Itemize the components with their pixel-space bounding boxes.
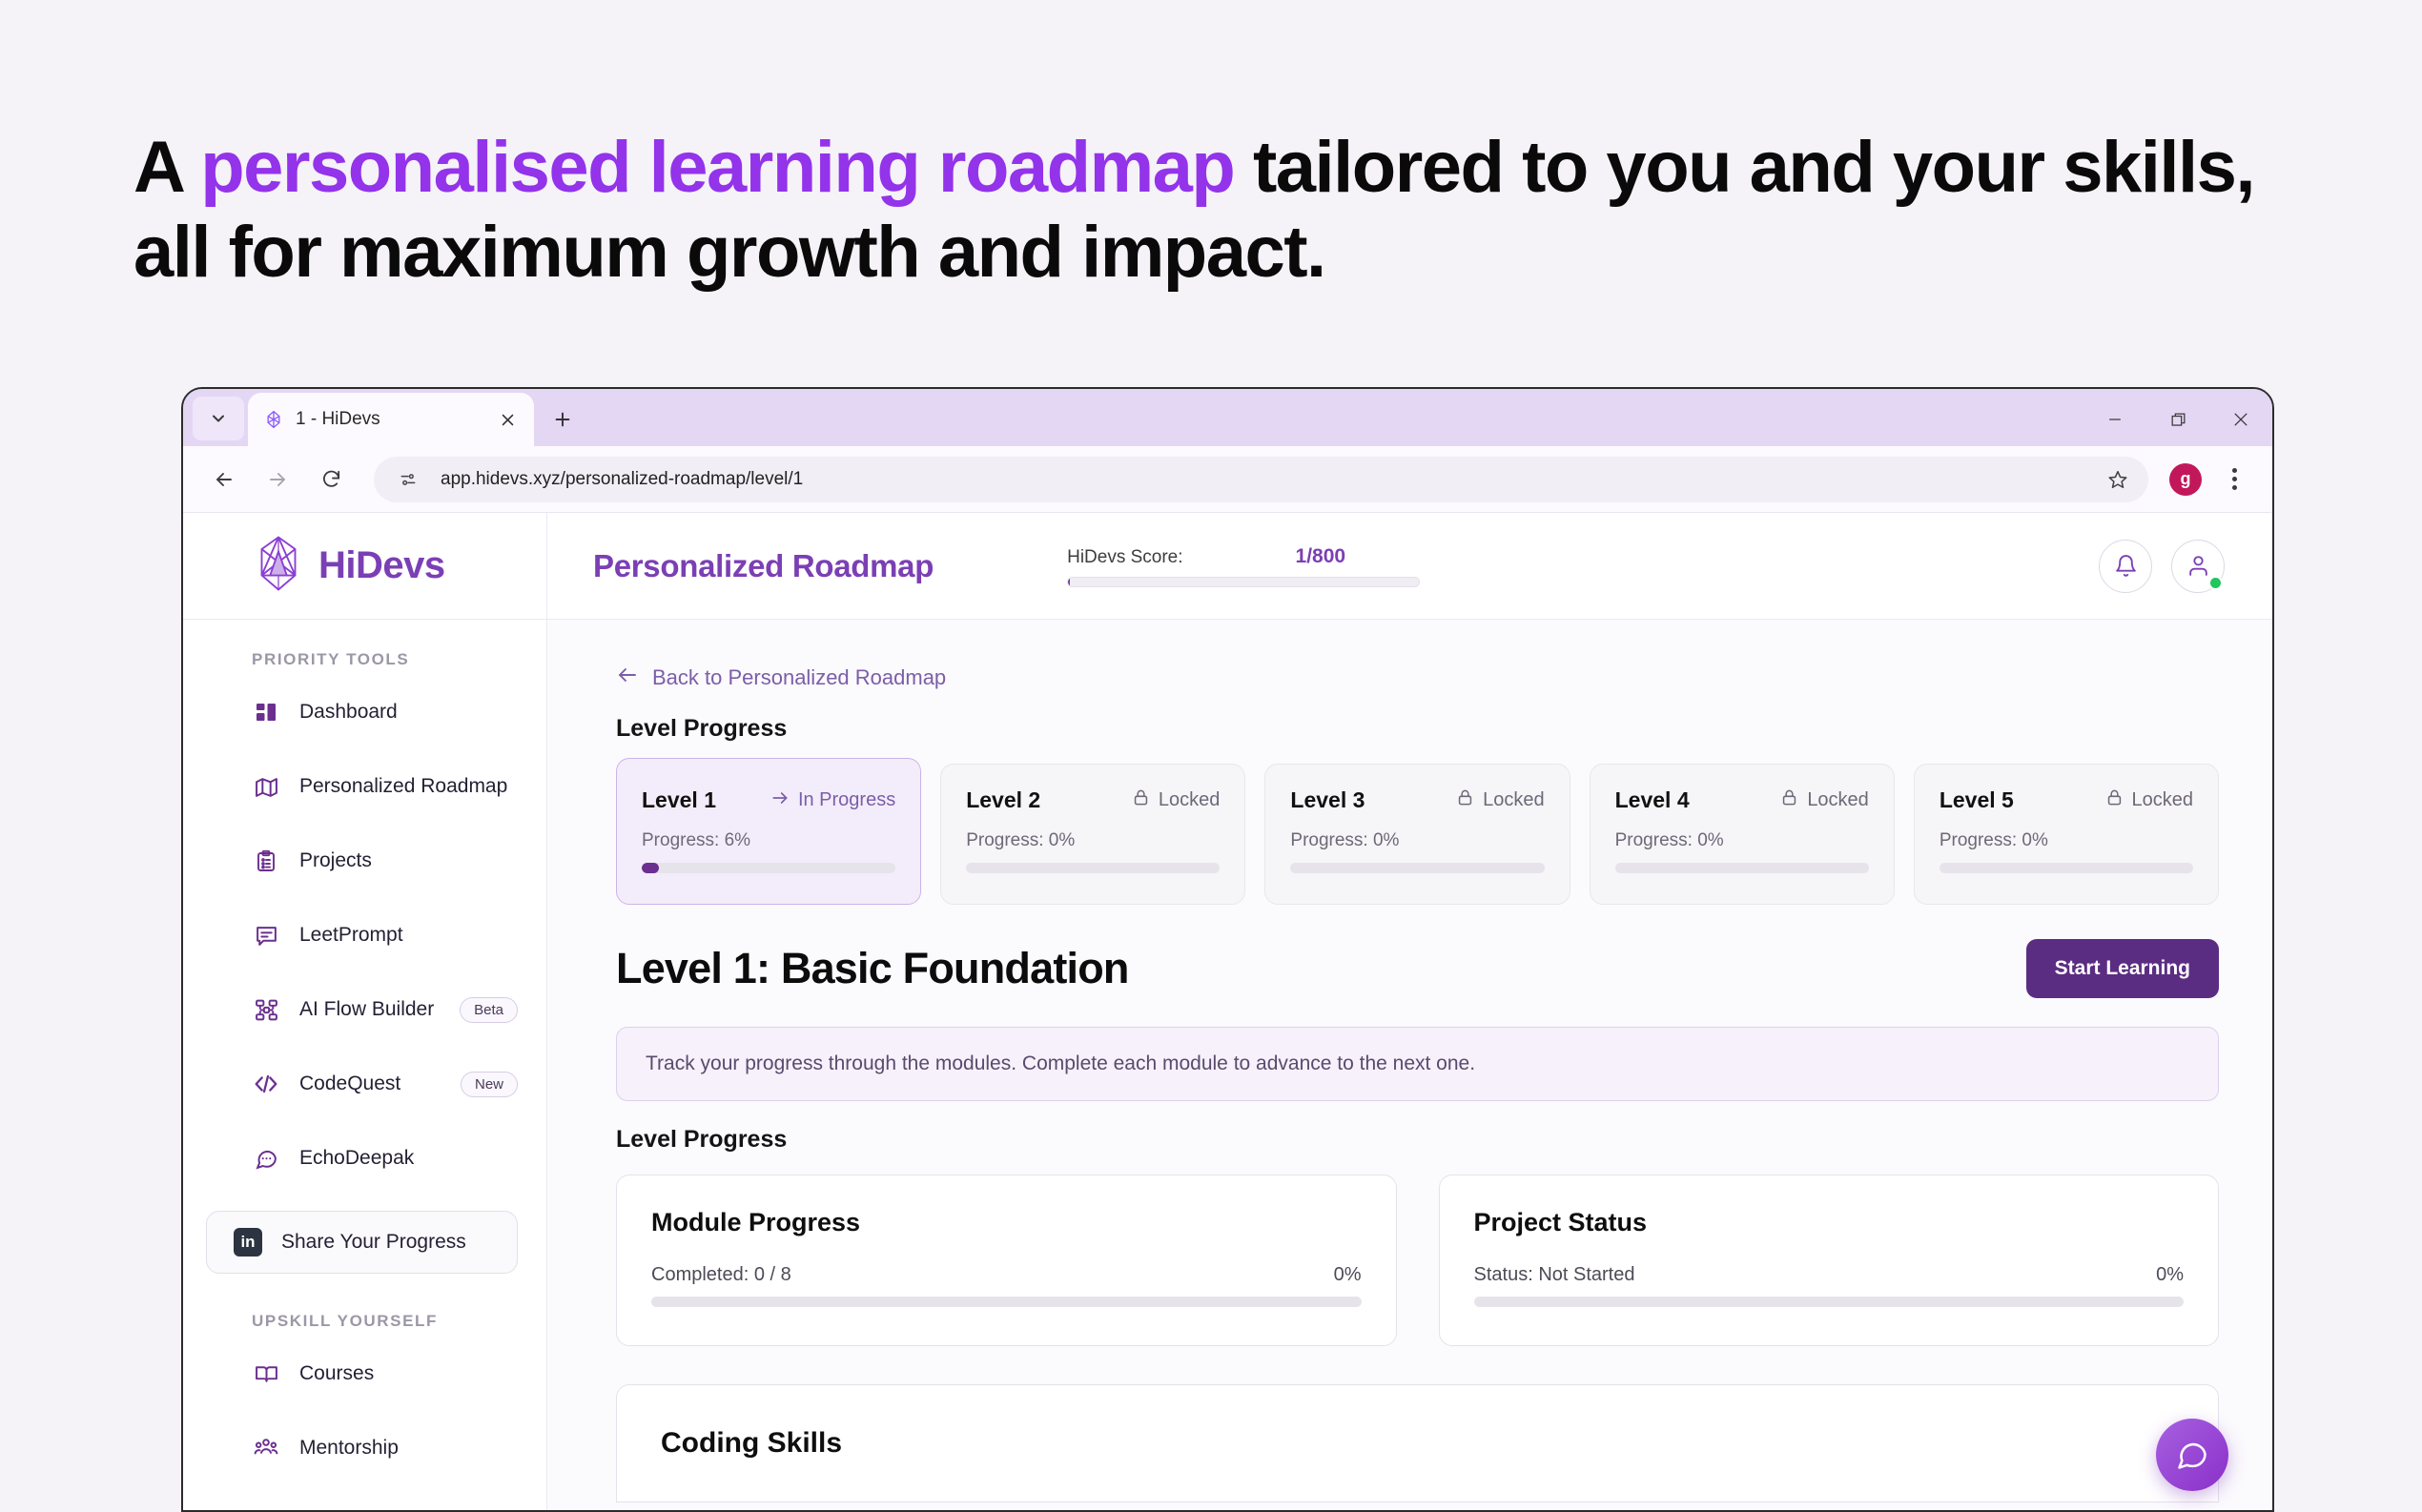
app-header: HiDevs Personalized Roadmap HiDevs Score… bbox=[183, 513, 2272, 620]
level-card-4[interactable]: Level 4 Locked Progress: 0% bbox=[1590, 764, 1895, 905]
plus-icon[interactable] bbox=[542, 398, 584, 440]
module-percent: 0% bbox=[1334, 1264, 1362, 1286]
header-actions bbox=[2099, 540, 2225, 593]
level-title: Level 1: Basic Foundation bbox=[616, 944, 1129, 993]
level-progress-label: Progress: 0% bbox=[1940, 830, 2193, 851]
level-status-label: Locked bbox=[1159, 789, 1221, 811]
score-progress-bar bbox=[1067, 577, 1420, 587]
lock-icon bbox=[1780, 788, 1798, 812]
main-content: Back to Personalized Roadmap Level Progr… bbox=[547, 620, 2272, 1512]
clipboard-icon bbox=[252, 847, 280, 875]
level-status-label: In Progress bbox=[798, 789, 895, 811]
sidebar-item-leetprompt[interactable]: LeetPrompt bbox=[183, 913, 546, 957]
sidebar-item-label: CodeQuest bbox=[299, 1073, 400, 1095]
arrow-right-icon[interactable] bbox=[254, 456, 301, 503]
coding-skills-title: Coding Skills bbox=[661, 1427, 2174, 1460]
star-icon[interactable] bbox=[2099, 460, 2137, 499]
sidebar-item-projects[interactable]: Projects bbox=[183, 839, 546, 883]
sidebar-item-label: AI Flow Builder bbox=[299, 998, 434, 1021]
url-text: app.hidevs.xyz/personalized-roadmap/leve… bbox=[441, 469, 2085, 490]
sidebar-item-ai-flow-builder[interactable]: AI Flow Builder Beta bbox=[183, 988, 546, 1032]
sidebar-item-label: Dashboard bbox=[299, 701, 398, 724]
second-level-progress-heading: Level Progress bbox=[616, 1126, 2219, 1154]
level-status-label: Locked bbox=[1483, 789, 1545, 811]
browser-tab[interactable]: 1 - HiDevs bbox=[248, 393, 534, 446]
chat-bubble-icon bbox=[252, 1144, 280, 1173]
score-label: HiDevs Score: bbox=[1067, 547, 1182, 568]
sidebar-section-upskill-yourself: UPSKILL YOURSELF bbox=[183, 1312, 546, 1331]
back-link-label: Back to Personalized Roadmap bbox=[652, 665, 946, 690]
linkedin-icon: in bbox=[234, 1228, 262, 1257]
chat-bubble-icon[interactable] bbox=[2156, 1419, 2228, 1491]
score-value: 1/800 bbox=[1296, 545, 1346, 568]
app-logo[interactable]: HiDevs bbox=[183, 513, 547, 619]
level-card-5[interactable]: Level 5 Locked Progress: 0% bbox=[1914, 764, 2219, 905]
reload-icon[interactable] bbox=[307, 456, 355, 503]
browser-tab-title: 1 - HiDevs bbox=[296, 409, 484, 430]
arrow-right-icon bbox=[770, 788, 790, 813]
sidebar-item-codequest[interactable]: CodeQuest New bbox=[183, 1062, 546, 1106]
hidevs-diamond-icon bbox=[263, 409, 284, 430]
level-name: Level 1 bbox=[642, 787, 716, 813]
level-progress-bar bbox=[642, 863, 895, 873]
lock-icon bbox=[2105, 788, 2124, 812]
level-progress-bar bbox=[966, 863, 1220, 873]
sidebar-item-personalized-roadmap[interactable]: Personalized Roadmap bbox=[183, 765, 546, 808]
users-icon bbox=[252, 1434, 280, 1462]
page-title: Personalized Roadmap bbox=[593, 548, 934, 584]
level-name: Level 2 bbox=[966, 787, 1040, 813]
browser-profile-avatar[interactable]: g bbox=[2169, 463, 2202, 496]
level-title-row: Level 1: Basic Foundation Start Learning bbox=[616, 939, 2219, 998]
level-status: In Progress bbox=[770, 788, 895, 813]
user-icon[interactable] bbox=[2171, 540, 2225, 593]
minimize-icon[interactable] bbox=[2083, 393, 2146, 446]
sidebar-section-priority-tools: PRIORITY TOOLS bbox=[183, 650, 546, 669]
level-card-1[interactable]: Level 1 In Progress Progress: 6% bbox=[616, 758, 921, 905]
browser-tab-strip: 1 - HiDevs bbox=[183, 389, 2272, 446]
level-progress-bar bbox=[1940, 863, 2193, 873]
app-viewport: HiDevs Personalized Roadmap HiDevs Score… bbox=[183, 513, 2272, 1512]
brand-name: HiDevs bbox=[318, 544, 445, 587]
sidebar: PRIORITY TOOLS Dashboard Personalized Ro… bbox=[183, 620, 547, 1512]
hero-accent: personalised learning roadmap bbox=[200, 127, 1234, 208]
sidebar-item-label: Projects bbox=[299, 849, 372, 872]
sidebar-item-label: Personalized Roadmap bbox=[299, 775, 507, 798]
tune-icon[interactable] bbox=[389, 460, 427, 499]
arrow-left-icon bbox=[616, 664, 639, 692]
share-your-progress-button[interactable]: in Share Your Progress bbox=[206, 1211, 518, 1274]
stat-card-grid: Module Progress Completed: 0 / 8 0% Proj… bbox=[616, 1175, 2219, 1346]
code-brackets-icon bbox=[252, 1070, 280, 1098]
level-progress-label: Progress: 0% bbox=[1615, 830, 1869, 851]
sidebar-item-courses[interactable]: Courses bbox=[183, 1352, 546, 1396]
level-status: Locked bbox=[2105, 788, 2194, 812]
hidevs-diamond-logo bbox=[254, 535, 303, 597]
sidebar-item-dashboard[interactable]: Dashboard bbox=[183, 690, 546, 734]
sidebar-item-label: Mentorship bbox=[299, 1437, 399, 1460]
level-status: Locked bbox=[1456, 788, 1545, 812]
online-status-dot bbox=[2208, 576, 2223, 590]
workflow-icon bbox=[252, 995, 280, 1024]
lock-icon bbox=[1132, 788, 1150, 812]
bell-icon[interactable] bbox=[2099, 540, 2152, 593]
level-progress-bar bbox=[1615, 863, 1869, 873]
browser-toolbar: app.hidevs.xyz/personalized-roadmap/leve… bbox=[183, 446, 2272, 513]
sidebar-item-label: EchoDeepak bbox=[299, 1147, 414, 1170]
hero-lead: A bbox=[133, 127, 200, 208]
level-status-label: Locked bbox=[2132, 789, 2194, 811]
level-progress-label: Progress: 0% bbox=[1290, 830, 1544, 851]
sidebar-item-label: LeetPrompt bbox=[299, 924, 403, 947]
start-learning-button[interactable]: Start Learning bbox=[2026, 939, 2219, 998]
app-header-main: Personalized Roadmap HiDevs Score: 1/800 bbox=[547, 513, 2272, 619]
close-icon[interactable] bbox=[496, 408, 519, 431]
level-status-label: Locked bbox=[1807, 789, 1869, 811]
book-open-icon bbox=[252, 1359, 280, 1388]
level-progress-label: Progress: 0% bbox=[966, 830, 1220, 851]
level-status: Locked bbox=[1132, 788, 1221, 812]
level-progress-heading: Level Progress bbox=[616, 715, 2219, 743]
level-card-2[interactable]: Level 2 Locked Progress: 0% bbox=[940, 764, 1245, 905]
browser-window: 1 - HiDevs bbox=[181, 387, 2274, 1512]
map-icon bbox=[252, 772, 280, 801]
level-status: Locked bbox=[1780, 788, 1869, 812]
share-your-progress-label: Share Your Progress bbox=[281, 1231, 466, 1254]
module-progress-card: Module Progress Completed: 0 / 8 0% bbox=[616, 1175, 1397, 1346]
tab-list-chevron-icon[interactable] bbox=[193, 397, 244, 440]
coding-skills-card: Coding Skills bbox=[616, 1384, 2219, 1502]
level-progress-grid: Level 1 In Progress Progress: 6% bbox=[616, 764, 2219, 905]
kebab-menu-icon[interactable] bbox=[2217, 460, 2251, 499]
grid-dashboard-icon bbox=[252, 698, 280, 726]
sidebar-item-mentorship[interactable]: Mentorship bbox=[183, 1426, 546, 1470]
project-status-title: Project Status bbox=[1474, 1208, 2185, 1237]
hidevs-score: HiDevs Score: 1/800 bbox=[1067, 545, 1420, 587]
module-progress-bar bbox=[651, 1297, 1362, 1307]
sidebar-badge-new: New bbox=[461, 1072, 518, 1097]
progress-notice: Track your progress through the modules.… bbox=[616, 1027, 2219, 1101]
hero-headline: A personalised learning roadmap tailored… bbox=[133, 126, 2327, 296]
module-progress-title: Module Progress bbox=[651, 1208, 1362, 1237]
restore-icon[interactable] bbox=[2146, 393, 2209, 446]
level-progress-label: Progress: 6% bbox=[642, 830, 895, 851]
app-body: PRIORITY TOOLS Dashboard Personalized Ro… bbox=[183, 620, 2272, 1512]
level-name: Level 5 bbox=[1940, 787, 2014, 813]
sidebar-badge-beta: Beta bbox=[460, 997, 518, 1023]
project-progress-bar bbox=[1474, 1297, 2185, 1307]
level-progress-bar bbox=[1290, 863, 1544, 873]
message-square-icon bbox=[252, 921, 280, 950]
close-icon[interactable] bbox=[2209, 393, 2272, 446]
level-card-3[interactable]: Level 3 Locked Progress: 0% bbox=[1264, 764, 1570, 905]
address-bar[interactable]: app.hidevs.xyz/personalized-roadmap/leve… bbox=[374, 457, 2148, 502]
back-to-personalized-roadmap-link[interactable]: Back to Personalized Roadmap bbox=[616, 664, 2219, 692]
project-status-card: Project Status Status: Not Started 0% bbox=[1439, 1175, 2220, 1346]
project-status-label: Status: Not Started bbox=[1474, 1264, 1635, 1286]
lock-icon bbox=[1456, 788, 1474, 812]
window-controls bbox=[2083, 393, 2272, 446]
project-percent: 0% bbox=[2156, 1264, 2184, 1286]
arrow-left-icon[interactable] bbox=[200, 456, 248, 503]
module-completed-label: Completed: 0 / 8 bbox=[651, 1264, 791, 1286]
sidebar-item-echodeepak[interactable]: EchoDeepak bbox=[183, 1136, 546, 1180]
level-name: Level 3 bbox=[1290, 787, 1365, 813]
level-name: Level 4 bbox=[1615, 787, 1690, 813]
sidebar-item-label: Courses bbox=[299, 1362, 374, 1385]
